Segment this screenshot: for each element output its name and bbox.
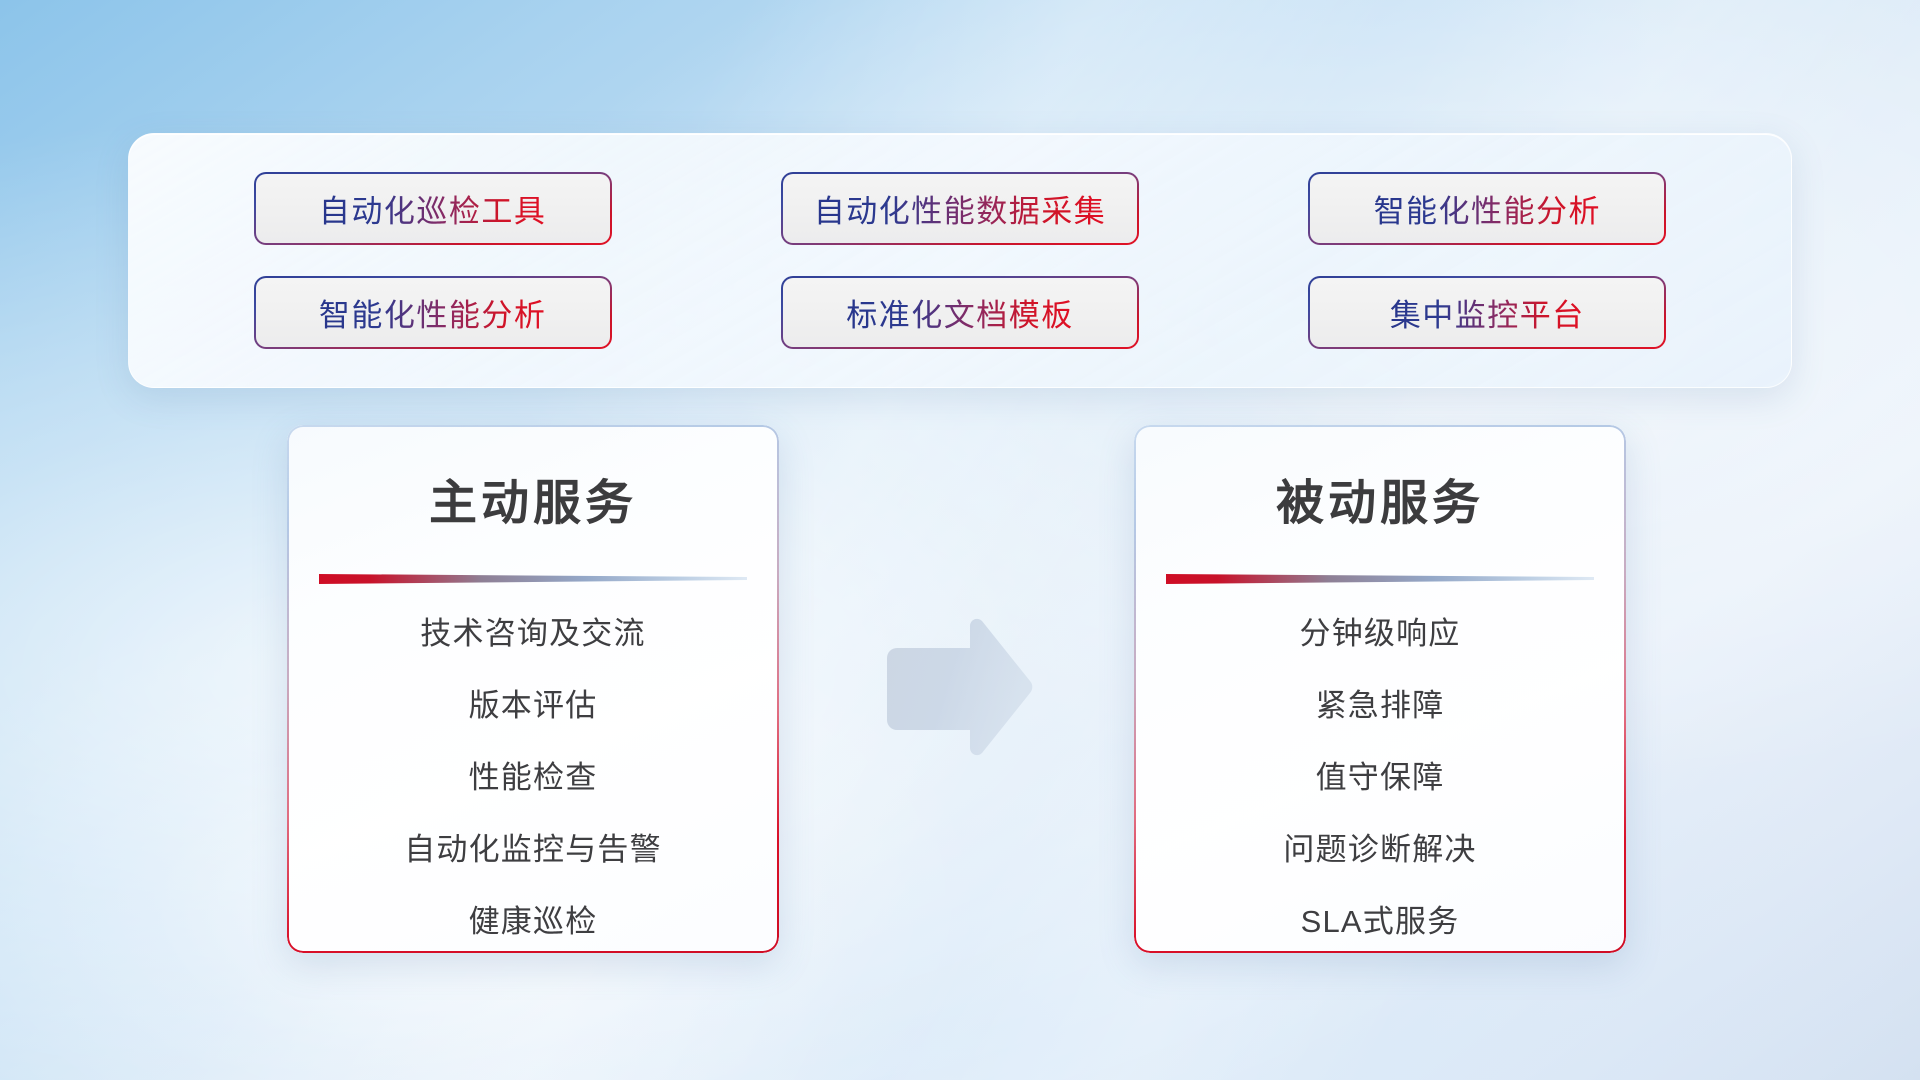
card-divider	[1166, 573, 1594, 584]
card-divider	[319, 573, 747, 584]
capabilities-panel: 自动化巡检工具 自动化性能数据采集 智能化性能分析 智能化性能分析	[128, 133, 1792, 388]
capability-pill-label: 标准化文档模板	[846, 290, 1074, 335]
capability-pill[interactable]: 标准化文档模板	[781, 276, 1139, 349]
capability-pill-inner: 标准化文档模板	[783, 278, 1137, 347]
list-item: 紧急排障	[1134, 690, 1626, 721]
capability-pill[interactable]: 智能化性能分析	[1308, 172, 1666, 245]
capability-pill-inner: 自动化巡检工具	[256, 174, 610, 243]
service-item-list: 分钟级响应 紧急排障 值守保障 问题诊断解决 SLA式服务	[1134, 618, 1626, 937]
capability-pill-label: 集中监控平台	[1390, 290, 1585, 335]
list-item: 自动化监控与告警	[287, 834, 779, 865]
arrow-right-icon	[873, 618, 1038, 760]
list-item: 健康巡检	[287, 906, 779, 937]
capability-pill[interactable]: 自动化性能数据采集	[781, 172, 1139, 245]
service-card-active: 主动服务 技术咨询及交流 版本评估 性能检查	[287, 425, 779, 953]
list-item: 性能检查	[287, 762, 779, 793]
list-item: SLA式服务	[1134, 906, 1626, 937]
slide-canvas: 自动化巡检工具 自动化性能数据采集 智能化性能分析 智能化性能分析	[0, 0, 1920, 1080]
list-item: 技术咨询及交流	[287, 618, 779, 649]
list-item: 问题诊断解决	[1134, 834, 1626, 865]
capability-pill-inner: 集中监控平台	[1310, 278, 1664, 347]
service-item-list: 技术咨询及交流 版本评估 性能检查 自动化监控与告警 健康巡检	[287, 618, 779, 937]
capability-pill-label: 智能化性能分析	[319, 290, 547, 335]
list-item: 分钟级响应	[1134, 618, 1626, 649]
service-card-passive: 被动服务 分钟级响应 紧急排障 值守保障	[1134, 425, 1626, 953]
card-title: 被动服务	[1134, 463, 1626, 533]
capability-pill[interactable]: 自动化巡检工具	[254, 172, 612, 245]
capability-pill-label: 自动化巡检工具	[319, 186, 547, 231]
capability-pill[interactable]: 集中监控平台	[1308, 276, 1666, 349]
capability-pill-inner: 智能化性能分析	[1310, 174, 1664, 243]
list-item: 值守保障	[1134, 762, 1626, 793]
capability-pill-label: 智能化性能分析	[1374, 186, 1602, 231]
capability-pill-label: 自动化性能数据采集	[814, 186, 1107, 231]
capability-pill-inner: 智能化性能分析	[256, 278, 610, 347]
capability-pill[interactable]: 智能化性能分析	[254, 276, 612, 349]
capability-pill-inner: 自动化性能数据采集	[783, 174, 1137, 243]
capability-pill-grid: 自动化巡检工具 自动化性能数据采集 智能化性能分析 智能化性能分析	[129, 134, 1791, 387]
list-item: 版本评估	[287, 690, 779, 721]
card-title: 主动服务	[287, 463, 779, 533]
